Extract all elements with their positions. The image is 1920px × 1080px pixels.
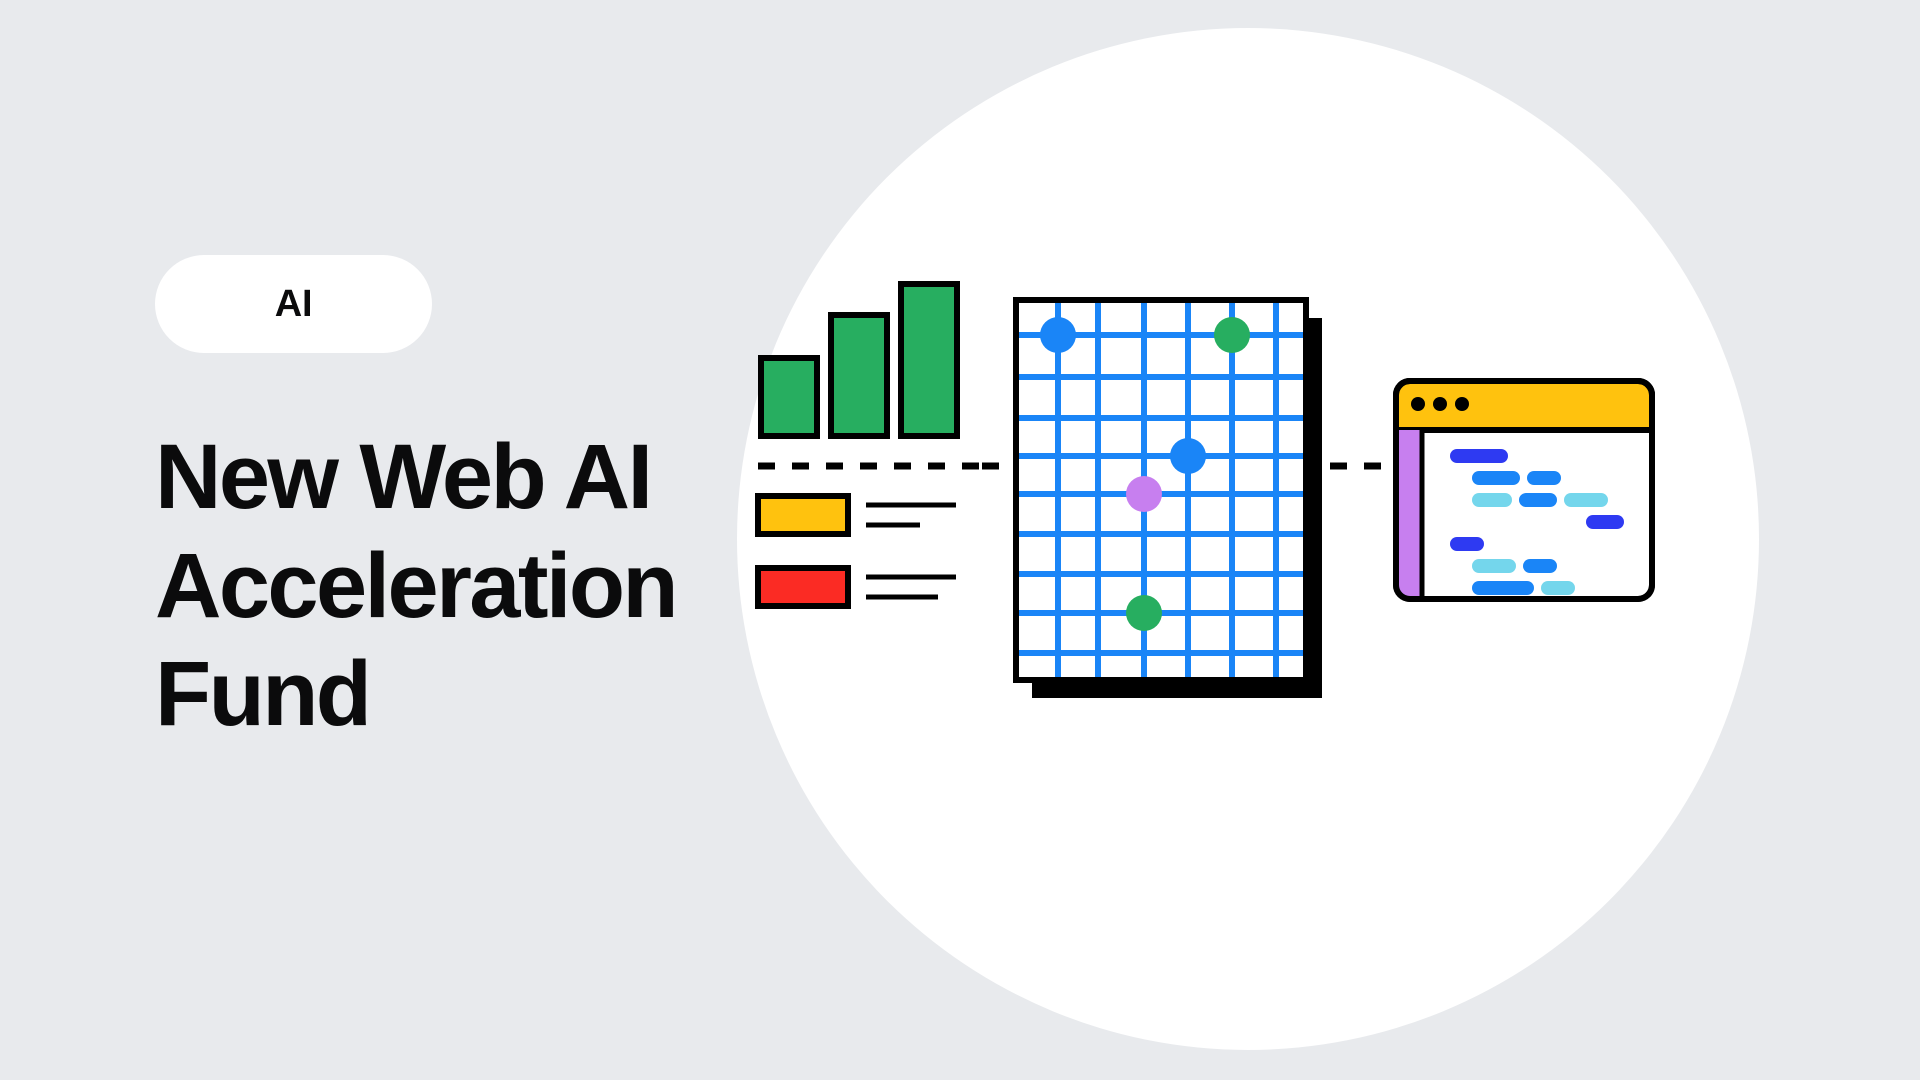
code-line [1527,471,1561,485]
code-window-group [1396,381,1652,599]
code-line [1564,493,1608,507]
code-line [1586,515,1624,529]
code-line [1472,559,1516,573]
window-dot-2-icon [1433,397,1447,411]
code-line [1472,493,1512,507]
data-grid-group [1016,300,1322,698]
code-line [1450,537,1484,551]
data-point-blue-2 [1170,438,1206,474]
legend-swatch-red [758,568,848,606]
hero-banner: AI New Web AI Acceleration Fund [0,0,1920,1080]
category-badge[interactable]: AI [155,255,432,353]
category-badge-label: AI [275,285,312,323]
code-line [1450,449,1508,463]
code-window-sidebar [1396,430,1422,599]
bar-chart-bar-3 [901,284,957,436]
window-dot-1-icon [1411,397,1425,411]
code-line [1541,581,1575,595]
data-point-purple-1 [1126,476,1162,512]
legend-swatch-yellow [758,496,848,534]
data-point-blue-1 [1040,317,1076,353]
data-point-green-1 [1214,317,1250,353]
code-line [1523,559,1557,573]
bar-chart-bar-2 [831,315,887,436]
hero-illustration [720,0,1920,1080]
bar-chart-group [758,284,982,606]
bar-chart-bar-1 [761,358,817,436]
window-dot-3-icon [1455,397,1469,411]
code-line [1472,471,1520,485]
data-point-green-2 [1126,595,1162,631]
code-line [1472,581,1534,595]
illustration-svg [720,0,1920,1080]
code-line [1519,493,1557,507]
page-title: New Web AI Acceleration Fund [155,423,795,749]
